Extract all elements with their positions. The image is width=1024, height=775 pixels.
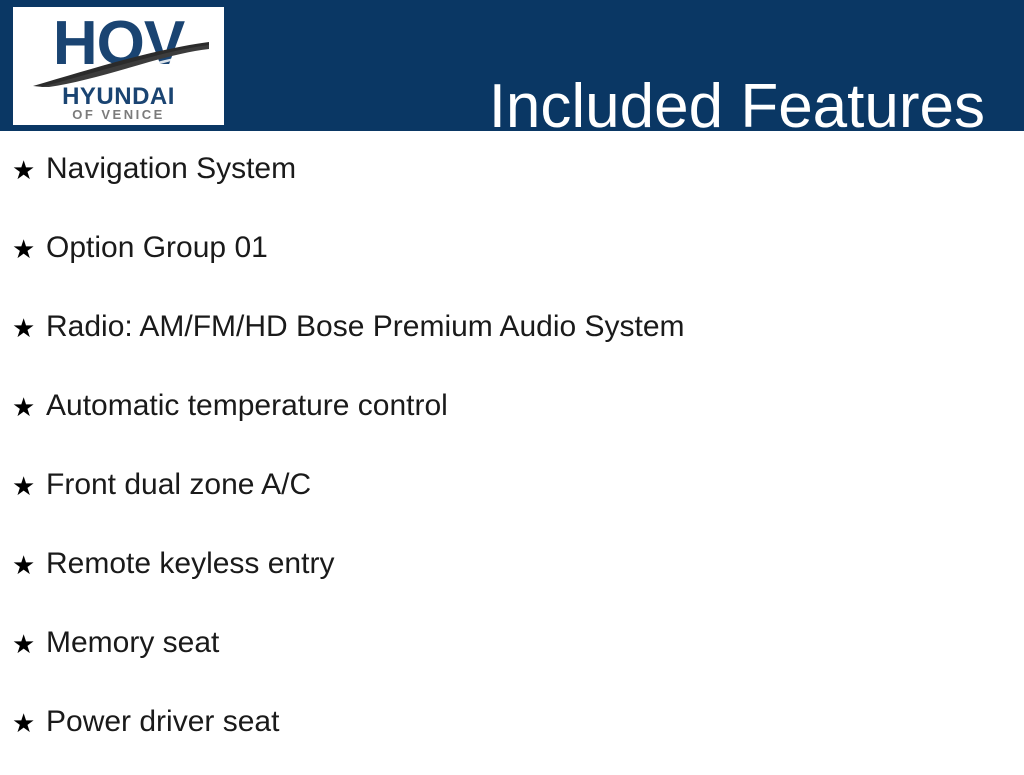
feature-label: Remote keyless entry bbox=[46, 538, 1024, 584]
included-features-list: ★ Navigation System ★ Option Group 01 ★ … bbox=[0, 143, 1024, 775]
star-bullet-icon: ★ bbox=[12, 235, 35, 265]
logo-hov-text: HOV bbox=[13, 13, 224, 75]
list-item: ★ Automatic temperature control bbox=[0, 380, 1024, 459]
list-item: ★ Memory seat bbox=[0, 617, 1024, 696]
feature-label: Radio: AM/FM/HD Bose Premium Audio Syste… bbox=[46, 301, 1024, 347]
star-bullet-icon: ★ bbox=[12, 630, 35, 660]
list-item: ★ Option Group 01 bbox=[0, 222, 1024, 301]
list-item: ★ Navigation System bbox=[0, 143, 1024, 222]
dealer-logo-inner: HOV HYUNDAI OF VENICE bbox=[13, 7, 224, 125]
star-bullet-icon: ★ bbox=[12, 472, 35, 502]
feature-label: Power driver seat bbox=[46, 696, 1024, 742]
star-bullet-icon: ★ bbox=[12, 156, 35, 186]
star-bullet-icon: ★ bbox=[12, 551, 35, 581]
logo-hov-mark: HOV bbox=[13, 13, 224, 81]
feature-label: Navigation System bbox=[46, 143, 1024, 189]
feature-label: Option Group 01 bbox=[46, 222, 1024, 268]
logo-location-text: OF VENICE bbox=[13, 108, 224, 121]
list-item: ★ Remote keyless entry bbox=[0, 538, 1024, 617]
slide-header-band: HOV HYUNDAI OF VENICE Included Features bbox=[0, 0, 1024, 131]
feature-label: Front dual zone A/C bbox=[46, 459, 1024, 505]
feature-label: Automatic temperature control bbox=[46, 380, 1024, 426]
dealer-logo[interactable]: HOV HYUNDAI OF VENICE bbox=[13, 7, 224, 125]
list-item: ★ Power driver seat bbox=[0, 696, 1024, 775]
list-item: ★ Front dual zone A/C bbox=[0, 459, 1024, 538]
star-bullet-icon: ★ bbox=[12, 393, 35, 423]
list-item: ★ Radio: AM/FM/HD Bose Premium Audio Sys… bbox=[0, 301, 1024, 380]
logo-brand-text: HYUNDAI bbox=[13, 85, 224, 109]
star-bullet-icon: ★ bbox=[12, 314, 35, 344]
feature-label: Memory seat bbox=[46, 617, 1024, 663]
star-bullet-icon: ★ bbox=[12, 709, 35, 739]
slide-root: HOV HYUNDAI OF VENICE Included Features … bbox=[0, 0, 1024, 768]
page-title: Included Features bbox=[489, 71, 985, 143]
